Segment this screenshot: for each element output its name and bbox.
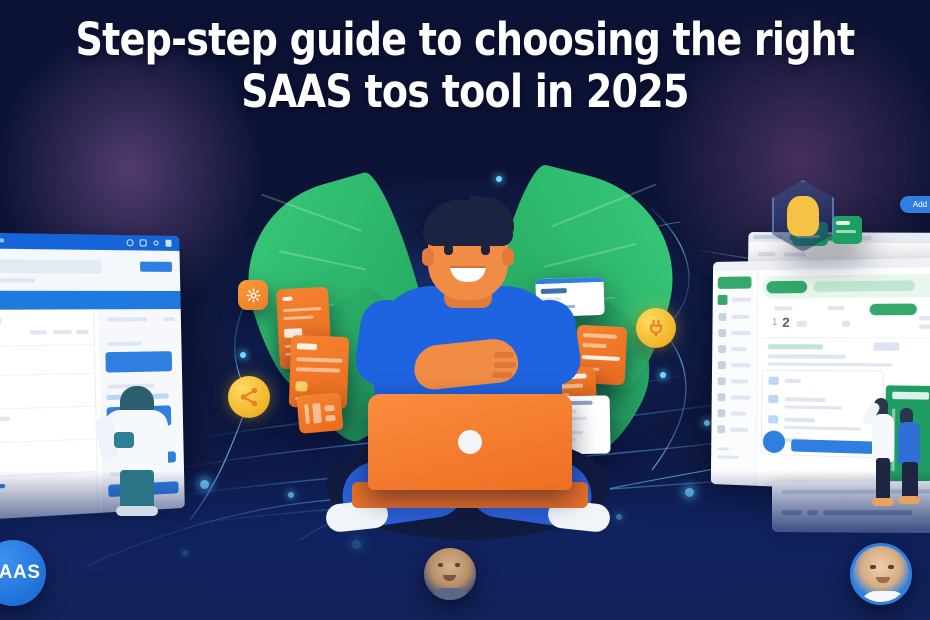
page-title-line-2: SAAS tos tool in 2025 [28,66,902,118]
hero-ear-left [422,248,434,266]
hero-laptop-logo [458,430,482,454]
network-node [704,420,710,426]
page-title-line-1: Step-step guide to choosing the right [28,14,902,66]
gear-icon [245,287,262,304]
hero-eye-left [444,244,453,255]
coin-share-icon[interactable] [228,376,270,418]
hero-finger [492,372,512,378]
right-panel-people-illustration [872,384,930,512]
poster-canvas: 1 2 [0,0,930,620]
share-icon [238,386,260,408]
hero-eye-right [481,244,490,255]
hero-brow-right [478,236,493,240]
network-node [240,352,246,358]
network-node [660,372,666,378]
coin-plug-icon[interactable] [636,308,676,348]
square-badge-settings-icon[interactable] [238,280,268,310]
left-panel-person-illustration [98,386,176,518]
add-pill-button[interactable]: Add [900,196,930,213]
green-mini-card-2[interactable] [832,216,862,244]
hero-illustration [318,196,618,556]
hex-badge-figure [787,196,819,236]
page-title: Step-step guide to choosing the right SA… [28,14,902,118]
hero-brow-left [441,236,456,240]
hero-finger [494,362,516,368]
hero-finger [494,352,514,358]
saas-badge-label: SAAS [0,562,40,584]
avatar-bottom-right[interactable] [850,543,912,605]
plug-icon [646,318,666,338]
hero-ear-right [502,248,514,266]
